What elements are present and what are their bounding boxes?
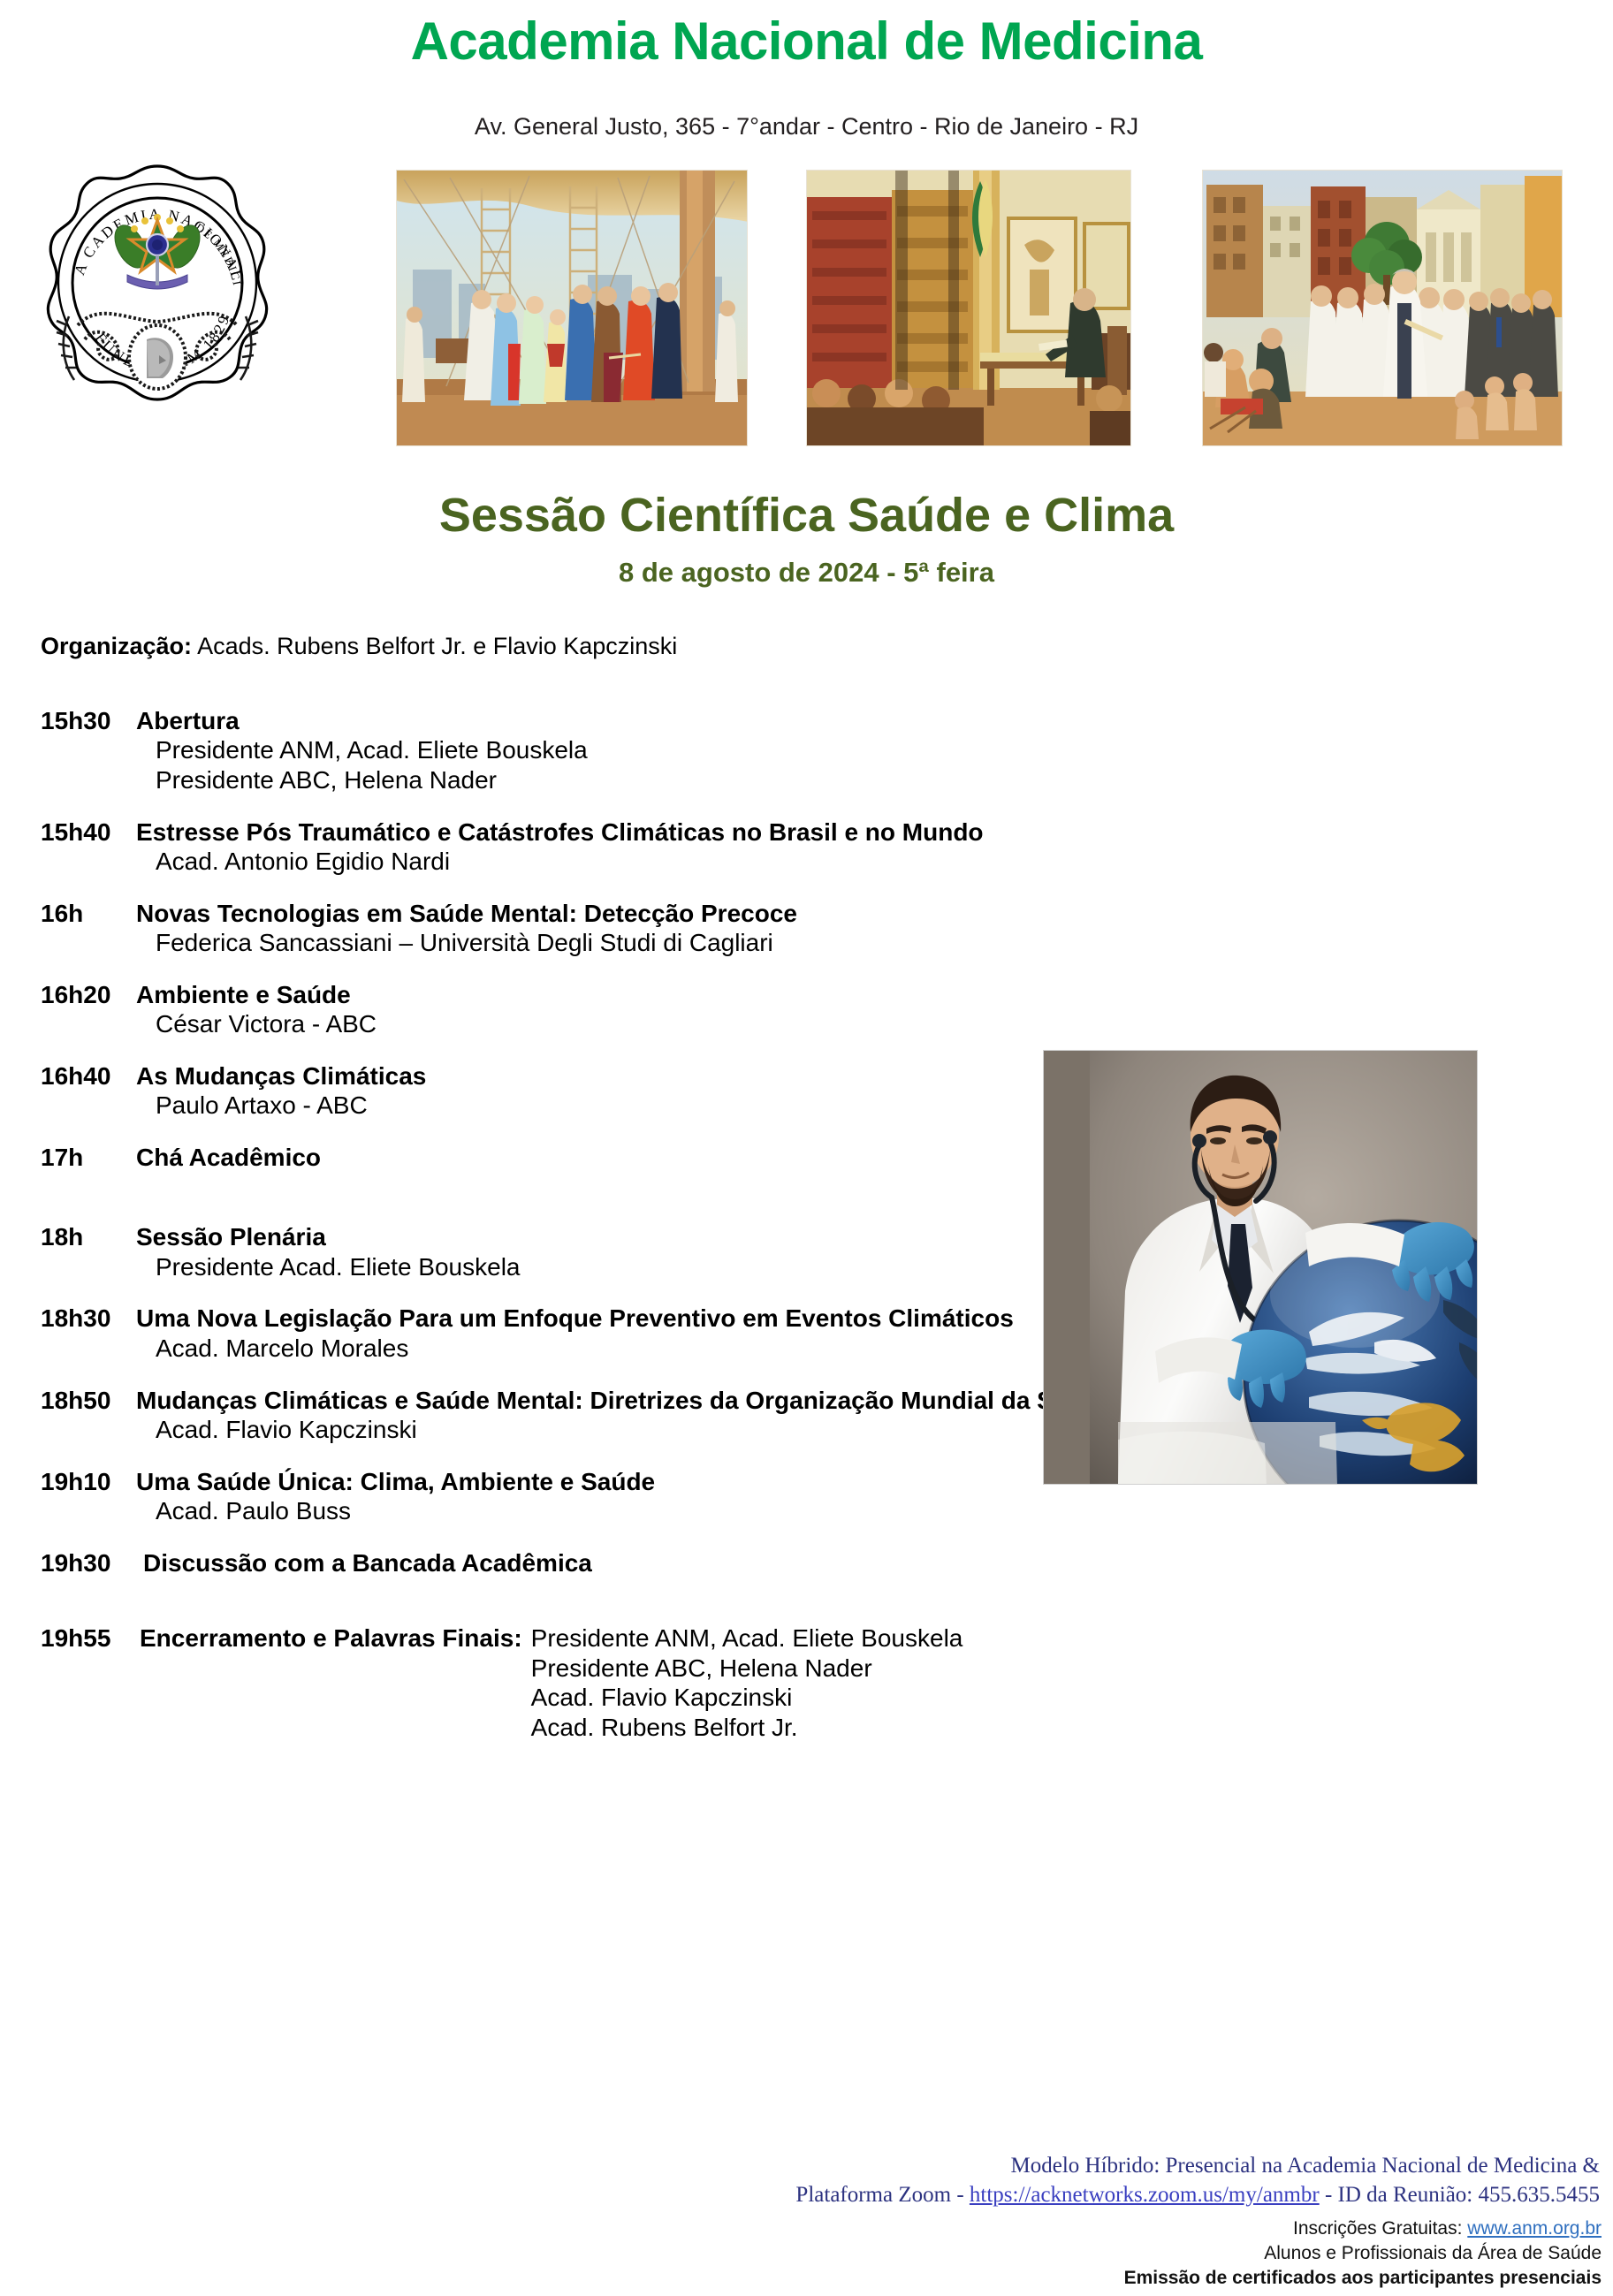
schedule-speakers: Acad. Paulo Buss bbox=[156, 1496, 1579, 1526]
header-image-physicians-street-scene bbox=[1202, 170, 1563, 446]
schedule-time: 17h bbox=[41, 1144, 136, 1172]
zoom-meeting-link[interactable]: https://acknetworks.zoom.us/my/anmbr bbox=[970, 2183, 1320, 2207]
hybrid-platform-label: Plataforma Zoom - bbox=[795, 2183, 969, 2207]
organization-value: Acads. Rubens Belfort Jr. e Flavio Kapcz… bbox=[197, 633, 677, 659]
schedule-time: 16h40 bbox=[41, 1062, 136, 1091]
session-title: Sessão Científica Saúde e Clima bbox=[0, 488, 1613, 543]
schedule-time: 16h20 bbox=[41, 981, 136, 1009]
painting-ship-deck-ceremony bbox=[397, 171, 748, 446]
schedule-time: 15h30 bbox=[41, 707, 136, 735]
painting-physicians-street-scene bbox=[1203, 171, 1563, 446]
schedule-time: 18h50 bbox=[41, 1387, 136, 1415]
schedule-speakers: César Victora - ABC bbox=[156, 1009, 1579, 1039]
schedule-title: Discussão com a Bancada Acadêmica bbox=[136, 1549, 1579, 1578]
doctor-with-globe-photo bbox=[1043, 1050, 1478, 1485]
schedule-item: 15h40 Estresse Pós Traumático e Catástro… bbox=[41, 818, 1579, 877]
page-title: Academia Nacional de Medicina bbox=[0, 11, 1613, 72]
organization-line: Organização: Acads. Rubens Belfort Jr. e… bbox=[41, 633, 677, 660]
schedule-time: 16h bbox=[41, 900, 136, 928]
footer-registration: Inscrições Gratuitas: www.anm.org.br Alu… bbox=[884, 2216, 1602, 2291]
hybrid-line-1: Modelo Híbrido: Presencial na Academia N… bbox=[672, 2151, 1600, 2180]
schedule-time: 19h10 bbox=[41, 1468, 136, 1496]
photo-doctor-stethoscope-earth bbox=[1044, 1051, 1478, 1485]
schedule-speakers: Acad. Antonio Egidio Nardi bbox=[156, 847, 1579, 877]
schedule-title: Novas Tecnologias em Saúde Mental: Detec… bbox=[136, 900, 1579, 928]
registration-audience: Alunos e Profissionais da Área de Saúde bbox=[884, 2241, 1602, 2266]
closing-label: Encerramento e Palavras Finais: bbox=[140, 1623, 522, 1654]
schedule-time: 18h bbox=[41, 1223, 136, 1251]
seal-icon: A CADEMIA NACIONAL DE MEDICINA FUNDADA E… bbox=[46, 152, 269, 444]
schedule-item: 16h Novas Tecnologias em Saúde Mental: D… bbox=[41, 900, 1579, 958]
schedule-item: 15h30 Abertura Presidente ANM, Acad. Eli… bbox=[41, 707, 1579, 795]
schedule-time: 15h40 bbox=[41, 818, 136, 847]
schedule-time: 18h30 bbox=[41, 1304, 136, 1333]
registration-line: Inscrições Gratuitas: www.anm.org.br bbox=[884, 2216, 1602, 2241]
session-date: 8 de agosto de 2024 - 5ª feira bbox=[0, 557, 1613, 589]
anm-website-link[interactable]: www.anm.org.br bbox=[1467, 2218, 1602, 2239]
schedule-title: Abertura bbox=[136, 707, 1579, 735]
schedule-item: 19h30 Discussão com a Bancada Acadêmica bbox=[41, 1549, 1579, 1578]
academia-nacional-de-medicina-seal-logo: A CADEMIA NACIONAL DE MEDICINA FUNDADA E… bbox=[46, 152, 269, 444]
schedule-title: Estresse Pós Traumático e Catástrofes Cl… bbox=[136, 818, 1579, 847]
certificate-note: Emissão de certificados aos participante… bbox=[884, 2266, 1602, 2291]
header-image-academy-hall-writer bbox=[806, 170, 1131, 446]
schedule-time: 19h30 bbox=[41, 1549, 136, 1578]
schedule-item: 16h20 Ambiente e Saúde César Victora - A… bbox=[41, 981, 1579, 1039]
schedule-time: 19h55 bbox=[41, 1623, 140, 1654]
painting-academy-hall-writer bbox=[807, 171, 1131, 446]
registration-label: Inscrições Gratuitas: bbox=[1293, 2218, 1467, 2239]
schedule-speakers: Presidente ANM, Acad. Eliete Bouskela Pr… bbox=[156, 735, 1579, 794]
closing-names: Presidente ANM, Acad. Eliete Bouskela Pr… bbox=[531, 1623, 963, 1742]
hybrid-line-2: Plataforma Zoom - https://acknetworks.zo… bbox=[672, 2180, 1600, 2209]
schedule-item-closing: 19h55 Encerramento e Palavras Finais: Pr… bbox=[41, 1623, 1579, 1742]
hybrid-meeting-id: - ID da Reunião: 455.635.5455 bbox=[1320, 2183, 1600, 2207]
footer-hybrid-model: Modelo Híbrido: Presencial na Academia N… bbox=[672, 2151, 1600, 2209]
schedule-speakers: Federica Sancassiani – Università Degli … bbox=[156, 928, 1579, 958]
schedule-title: Ambiente e Saúde bbox=[136, 981, 1579, 1009]
organization-label: Organização: bbox=[41, 633, 192, 659]
header-image-ship-deck-ceremony bbox=[396, 170, 748, 446]
institution-address: Av. General Justo, 365 - 7°andar - Centr… bbox=[0, 113, 1613, 141]
